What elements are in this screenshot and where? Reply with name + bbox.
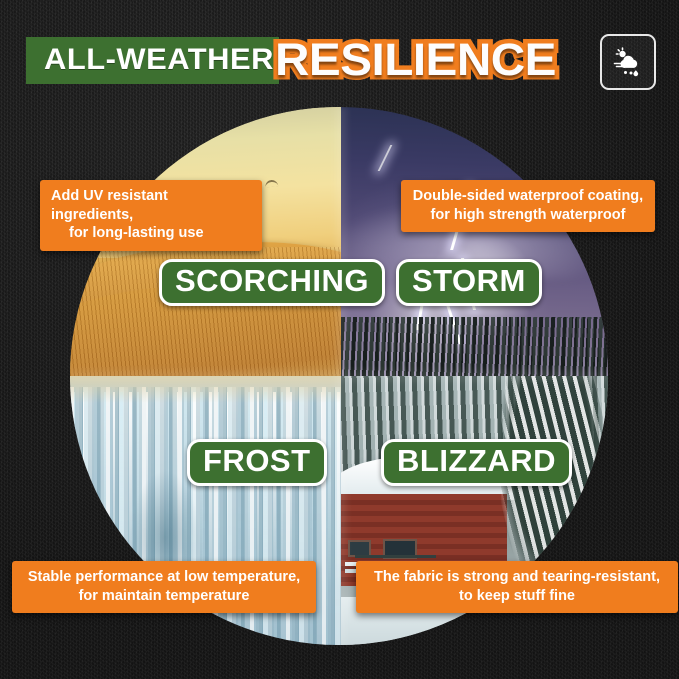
callout-line-1: Add UV resistant ingredients, bbox=[51, 187, 251, 224]
callout-line-2: for high strength waterproof bbox=[412, 206, 644, 225]
callout-frost: Stable performance at low temperature, f… bbox=[12, 561, 316, 613]
header-green-block: ALL-WEATHER bbox=[26, 37, 279, 84]
callout-line-1: The fabric is strong and tearing-resista… bbox=[367, 568, 667, 587]
weather-mixed-icon bbox=[600, 34, 656, 90]
lightning-bolt-icon bbox=[377, 145, 392, 171]
all-weather-resilience-poster: ALL-WEATHER RESILIENCE bbox=[0, 0, 679, 679]
callout-scorching: Add UV resistant ingredients, for long-l… bbox=[40, 180, 262, 251]
label-storm: STORM bbox=[396, 259, 542, 306]
label-frost: FROST bbox=[187, 439, 327, 486]
header-orange-block: RESILIENCE bbox=[275, 31, 540, 87]
storm-treeline bbox=[341, 317, 608, 376]
header-banner: ALL-WEATHER RESILIENCE bbox=[26, 31, 656, 87]
label-blizzard: BLIZZARD bbox=[381, 439, 572, 486]
callout-line-1: Double-sided waterproof coating, bbox=[412, 187, 644, 206]
label-scorching: SCORCHING bbox=[159, 259, 385, 306]
header-title-all-weather: ALL-WEATHER bbox=[44, 45, 274, 75]
callout-line-1: Stable performance at low temperature, bbox=[23, 568, 305, 587]
callout-line-2: to keep stuff fine bbox=[367, 587, 667, 606]
callout-line-2: for maintain temperature bbox=[23, 587, 305, 606]
ice-top-glow bbox=[70, 376, 341, 403]
header-title-resilience: RESILIENCE bbox=[275, 37, 556, 82]
callout-line-2: for long-lasting use bbox=[51, 224, 251, 243]
callout-storm: Double-sided waterproof coating, for hig… bbox=[401, 180, 655, 232]
quadrant-storm bbox=[341, 107, 608, 376]
callout-blizzard: The fabric is strong and tearing-resista… bbox=[356, 561, 678, 613]
